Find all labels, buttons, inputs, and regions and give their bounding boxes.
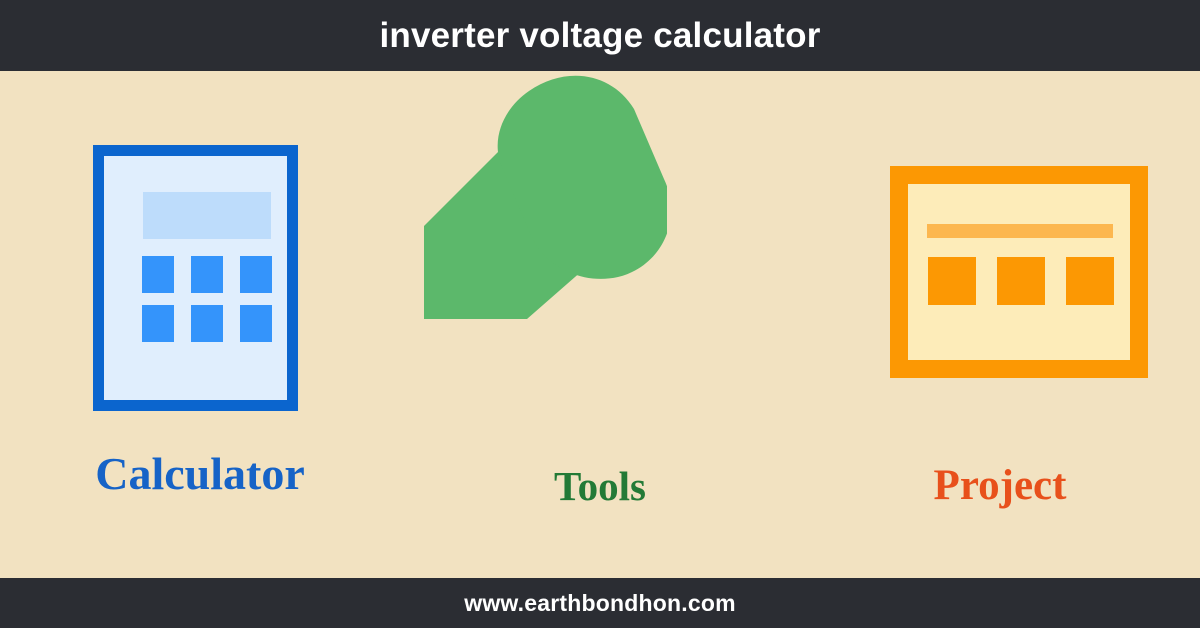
- card-label-calculator: Calculator: [0, 451, 400, 497]
- main-content: Calculator Tools: [0, 71, 1200, 578]
- tools-icon-slot: [400, 71, 800, 411]
- project-blocks-icon: [928, 257, 1114, 305]
- page-header: inverter voltage calculator: [0, 0, 1200, 71]
- calculator-key-icon: [240, 256, 272, 293]
- card-calculator[interactable]: Calculator: [0, 71, 400, 578]
- page-footer: www.earthbondhon.com: [0, 578, 1200, 628]
- calculator-icon-slot: [0, 71, 400, 411]
- calculator-display-icon: [143, 192, 271, 239]
- calculator-keypad-icon: [142, 256, 272, 342]
- card-project[interactable]: Project: [800, 71, 1200, 578]
- calculator-icon: [93, 145, 298, 411]
- project-icon-slot: [800, 71, 1200, 411]
- project-block-icon: [1066, 257, 1114, 305]
- calculator-key-icon: [240, 305, 272, 342]
- hammer-icon: [422, 71, 667, 321]
- page-title: inverter voltage calculator: [379, 18, 820, 53]
- project-window-icon: [890, 166, 1148, 378]
- project-block-icon: [997, 257, 1045, 305]
- card-label-project: Project: [800, 464, 1200, 507]
- calculator-key-icon: [191, 256, 223, 293]
- site-url: www.earthbondhon.com: [464, 590, 735, 617]
- project-titlebar-icon: [927, 224, 1113, 238]
- calculator-key-icon: [142, 305, 174, 342]
- project-block-icon: [928, 257, 976, 305]
- calculator-key-icon: [191, 305, 223, 342]
- card-label-tools: Tools: [400, 466, 800, 507]
- page-root: inverter voltage calculator Ca: [0, 0, 1200, 628]
- card-tools[interactable]: Tools: [400, 71, 800, 578]
- calculator-key-icon: [142, 256, 174, 293]
